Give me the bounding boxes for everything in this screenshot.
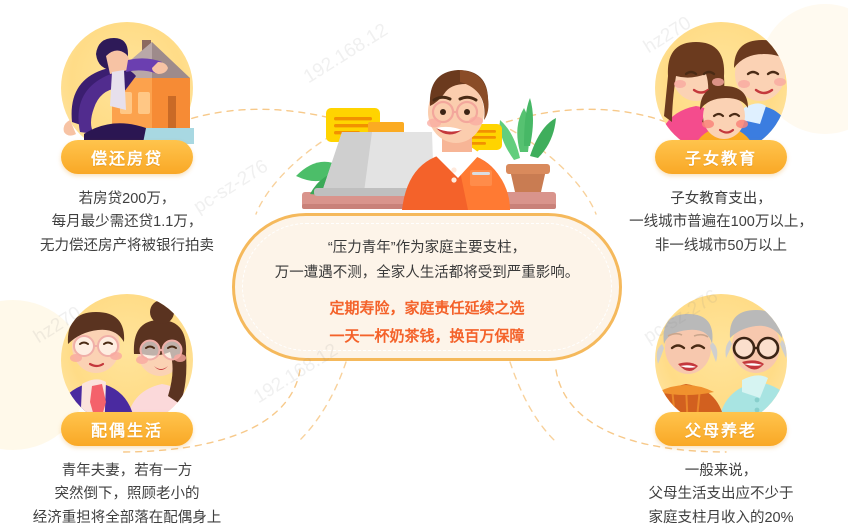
caption-mortgage-line-3: 无力偿还房产将被银行拍卖 bbox=[2, 235, 252, 258]
center-highlight-line-2: 一天一杯奶茶钱，换百万保障 bbox=[261, 324, 593, 350]
badge-mortgage[interactable]: 偿还房贷 bbox=[61, 140, 193, 174]
infographic-canvas: “压力青年”作为家庭主要支柱， 万一遭遇不测，全家人生活都将受到严重影响。 定期… bbox=[0, 0, 848, 532]
caption-education: 子女教育支出， 一线城市普遍在100万以上， 非一线城市50万以上 bbox=[596, 188, 846, 258]
caption-mortgage-line-2: 每月最少需还贷1.1万， bbox=[2, 211, 252, 234]
caption-spouse-line-3: 经济重担将全部落在配偶身上 bbox=[2, 507, 252, 530]
badge-spouse[interactable]: 配偶生活 bbox=[61, 412, 193, 446]
caption-spouse: 青年夫妻，若有一方 突然倒下，照顾老小的 经济重担将全部落在配偶身上 bbox=[2, 460, 252, 530]
badge-mortgage-label: 偿还房贷 bbox=[91, 145, 163, 169]
caption-education-line-1: 子女教育支出， bbox=[596, 188, 846, 211]
center-lead-line-2: 万一遭遇不测，全家人生活都将受到严重影响。 bbox=[261, 261, 593, 286]
caption-education-line-3: 非一线城市50万以上 bbox=[596, 235, 846, 258]
caption-mortgage: 若房贷200万， 每月最少需还贷1.1万， 无力偿还房产将被银行拍卖 bbox=[2, 188, 252, 258]
node-spouse[interactable]: 配偶生活 青年夫妻，若有一方 突然倒下，照顾老小的 经济重担将全部落在配偶身上 bbox=[2, 288, 252, 530]
caption-mortgage-line-1: 若房贷200万， bbox=[2, 188, 252, 211]
badge-elderly[interactable]: 父母养老 bbox=[655, 412, 787, 446]
node-elderly[interactable]: 父母养老 一般来说， 父母生活支出应不少于 家庭支柱月收入的20% bbox=[596, 288, 846, 530]
potted-plant-icon bbox=[500, 98, 556, 192]
caption-elderly-line-1: 一般来说， bbox=[596, 460, 846, 483]
caption-elderly-line-2: 父母生活支出应不少于 bbox=[596, 483, 846, 506]
caption-education-line-2: 一线城市普遍在100万以上， bbox=[596, 211, 846, 234]
node-education[interactable]: 子女教育 子女教育支出， 一线城市普遍在100万以上， 非一线城市50万以上 bbox=[596, 16, 846, 258]
center-illustration bbox=[284, 24, 574, 224]
badge-spouse-label: 配偶生活 bbox=[91, 417, 163, 441]
center-message-card: “压力青年”作为家庭主要支柱， 万一遭遇不测，全家人生活都将受到严重影响。 定期… bbox=[232, 213, 622, 361]
center-lead-line-1: “压力青年”作为家庭主要支柱， bbox=[261, 236, 593, 261]
badge-elderly-label: 父母养老 bbox=[685, 417, 757, 441]
center-highlight-line-1: 定期寿险，家庭责任延续之选 bbox=[261, 296, 593, 322]
caption-spouse-line-2: 突然倒下，照顾老小的 bbox=[2, 483, 252, 506]
caption-elderly: 一般来说， 父母生活支出应不少于 家庭支柱月收入的20% bbox=[596, 460, 846, 530]
badge-education[interactable]: 子女教育 bbox=[655, 140, 787, 174]
node-mortgage[interactable]: 偿还房贷 若房贷200万， 每月最少需还贷1.1万， 无力偿还房产将被银行拍卖 bbox=[2, 16, 252, 258]
caption-spouse-line-1: 青年夫妻，若有一方 bbox=[2, 460, 252, 483]
badge-education-label: 子女教育 bbox=[685, 145, 757, 169]
caption-elderly-line-3: 家庭支柱月收入的20% bbox=[596, 507, 846, 530]
